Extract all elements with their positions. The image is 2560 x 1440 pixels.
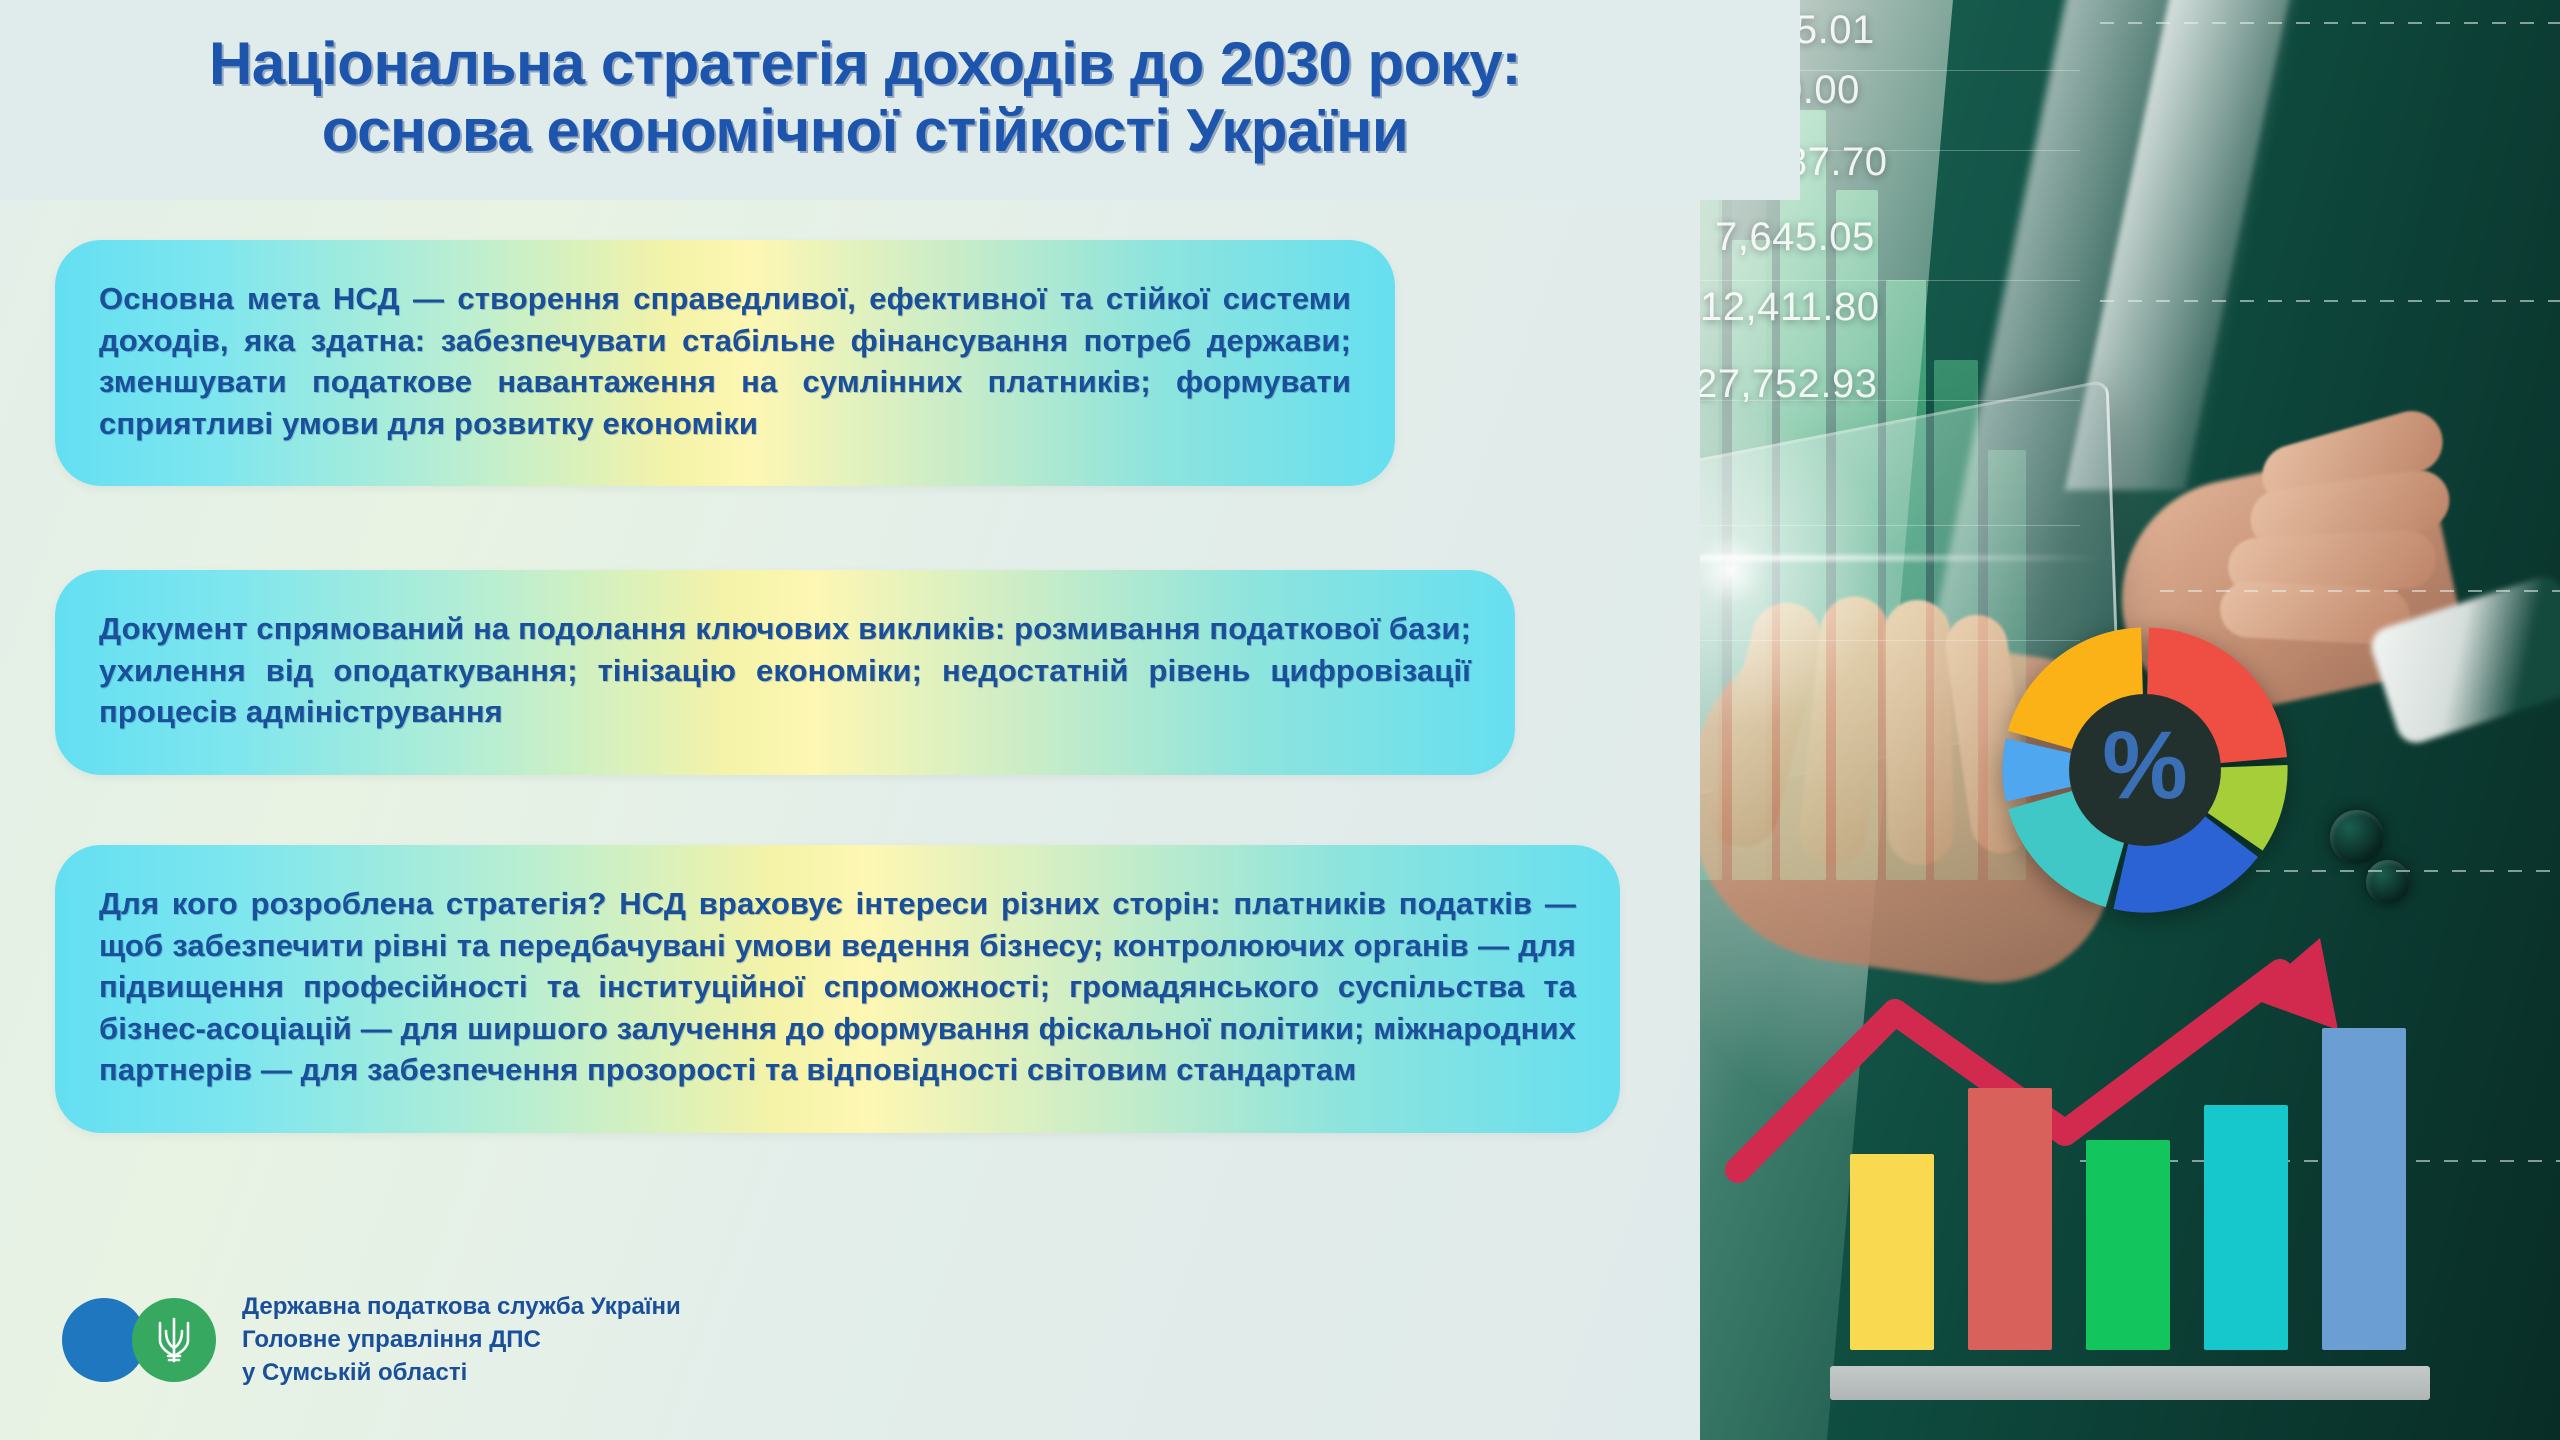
donut-percent-chart: % (1990, 615, 2300, 925)
bar-3 (2086, 1140, 2170, 1350)
card-stakeholders-text: Для кого розроблена стратегія? НСД врахо… (99, 883, 1576, 1091)
stock-number: 27,752.93 (1695, 362, 1877, 407)
page-title: Національна стратегія доходів до 2030 ро… (0, 30, 1730, 164)
card-challenges: Документ спрямований на подолання ключов… (55, 570, 1515, 775)
card-stakeholders: Для кого розроблена стратегія? НСД врахо… (55, 845, 1620, 1133)
bar-2 (1968, 1088, 2052, 1351)
footer-line-3: у Сумській області (242, 1356, 681, 1389)
bar-5 (2322, 1028, 2406, 1350)
dash-line-2 (2100, 300, 2560, 302)
card-main-goal: Основна мета НСД — створення справедливо… (55, 240, 1395, 486)
bar-1 (1850, 1154, 1934, 1350)
footer-branding: Державна податкова служба України Головн… (62, 1290, 681, 1389)
bar-chart-baseline (1830, 1366, 2430, 1400)
footer-line-2: Головне управління ДПС (242, 1323, 681, 1356)
page-title-line-1: Національна стратегія доходів до 2030 ро… (0, 30, 1730, 97)
dash-line-3 (2160, 590, 2560, 592)
footer-line-1: Державна податкова служба України (242, 1290, 681, 1323)
stock-number: 12,411.80 (1700, 285, 1879, 330)
stock-number: 7,645.05 (1715, 215, 1875, 260)
card-challenges-text: Документ спрямований на подолання ключов… (99, 608, 1471, 733)
donut-slice (2002, 738, 2072, 801)
page-title-line-2: основа економічної стійкості України (0, 97, 1730, 164)
footer-text-block: Державна податкова служба України Головн… (242, 1290, 681, 1389)
percent-symbol: % (2102, 712, 2187, 819)
header-band: Національна стратегія доходів до 2030 ро… (0, 0, 1800, 200)
growth-bar-chart (1820, 980, 2440, 1400)
dash-line-1 (2100, 22, 2560, 24)
trident-coat-of-arms-icon (153, 1314, 195, 1366)
logo-green-circle-icon (132, 1298, 216, 1382)
card-main-goal-text: Основна мета НСД — створення справедливо… (99, 278, 1351, 444)
suit-button-3 (2330, 810, 2384, 864)
bar-4 (2204, 1105, 2288, 1350)
